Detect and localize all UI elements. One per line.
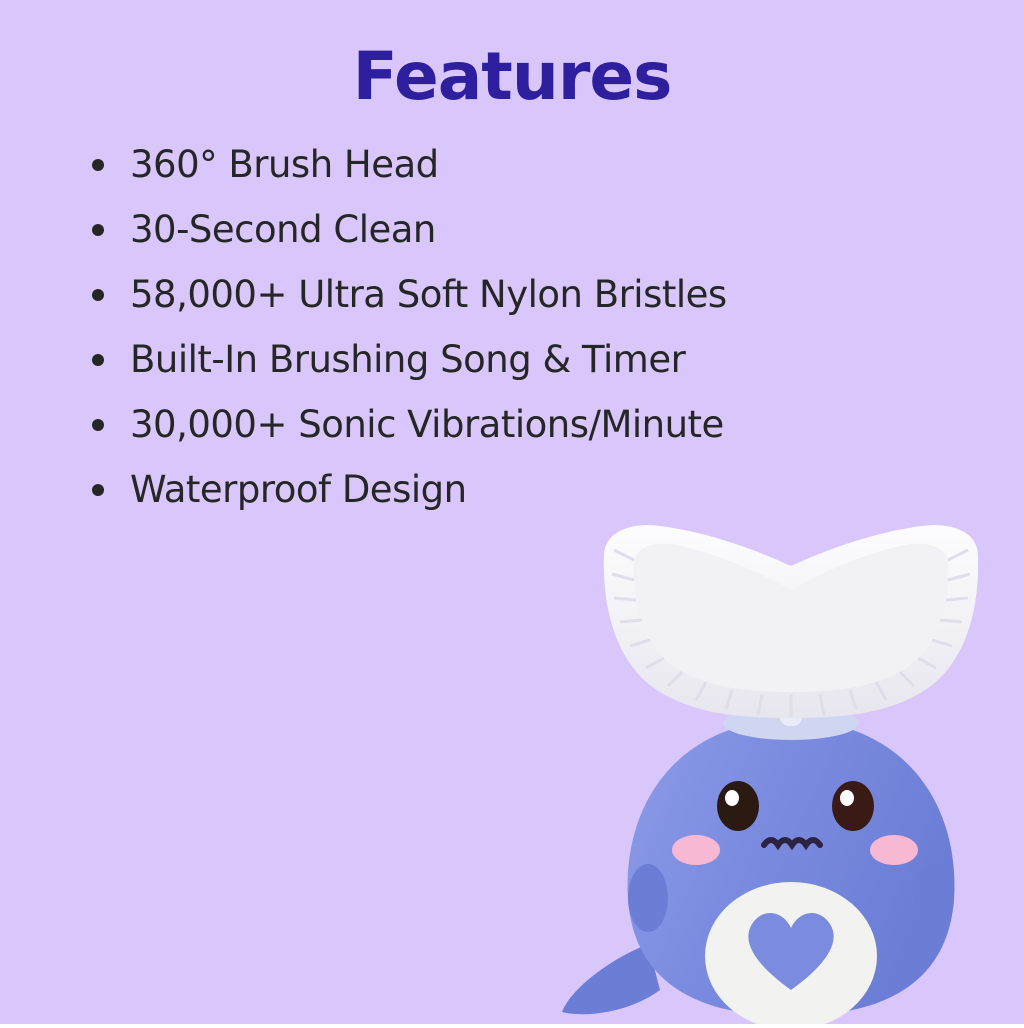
list-item: Built-In Brushing Song & Timer xyxy=(78,337,958,383)
bullet-icon xyxy=(92,289,104,301)
list-item: 58,000+ Ultra Soft Nylon Bristles xyxy=(78,272,958,318)
u-shaped-brush-head xyxy=(604,525,978,718)
bullet-icon xyxy=(92,224,104,236)
right-eye xyxy=(832,781,874,831)
feature-label: Built-In Brushing Song & Timer xyxy=(130,338,685,381)
list-item: 30-Second Clean xyxy=(78,207,958,253)
bullet-icon xyxy=(92,159,104,171)
feature-label: 58,000+ Ultra Soft Nylon Bristles xyxy=(130,273,727,316)
bullet-icon xyxy=(92,354,104,366)
feature-label: 30-Second Clean xyxy=(130,208,436,251)
list-item: 30,000+ Sonic Vibrations/Minute xyxy=(78,402,958,448)
feature-label: 360° Brush Head xyxy=(130,143,439,186)
product-image xyxy=(556,520,1024,1024)
left-eye xyxy=(717,781,759,831)
feature-label: 30,000+ Sonic Vibrations/Minute xyxy=(130,403,724,446)
feature-label: Waterproof Design xyxy=(130,468,467,511)
feature-list: 360° Brush Head 30-Second Clean 58,000+ … xyxy=(78,142,958,532)
bullet-icon xyxy=(92,484,104,496)
belly-badge xyxy=(705,882,877,1024)
list-item: 360° Brush Head xyxy=(78,142,958,188)
feature-slide: Features 360° Brush Head 30-Second Clean… xyxy=(0,0,1024,1024)
bullet-icon xyxy=(92,419,104,431)
list-item: Waterproof Design xyxy=(78,467,958,513)
page-title: Features xyxy=(0,38,1024,115)
